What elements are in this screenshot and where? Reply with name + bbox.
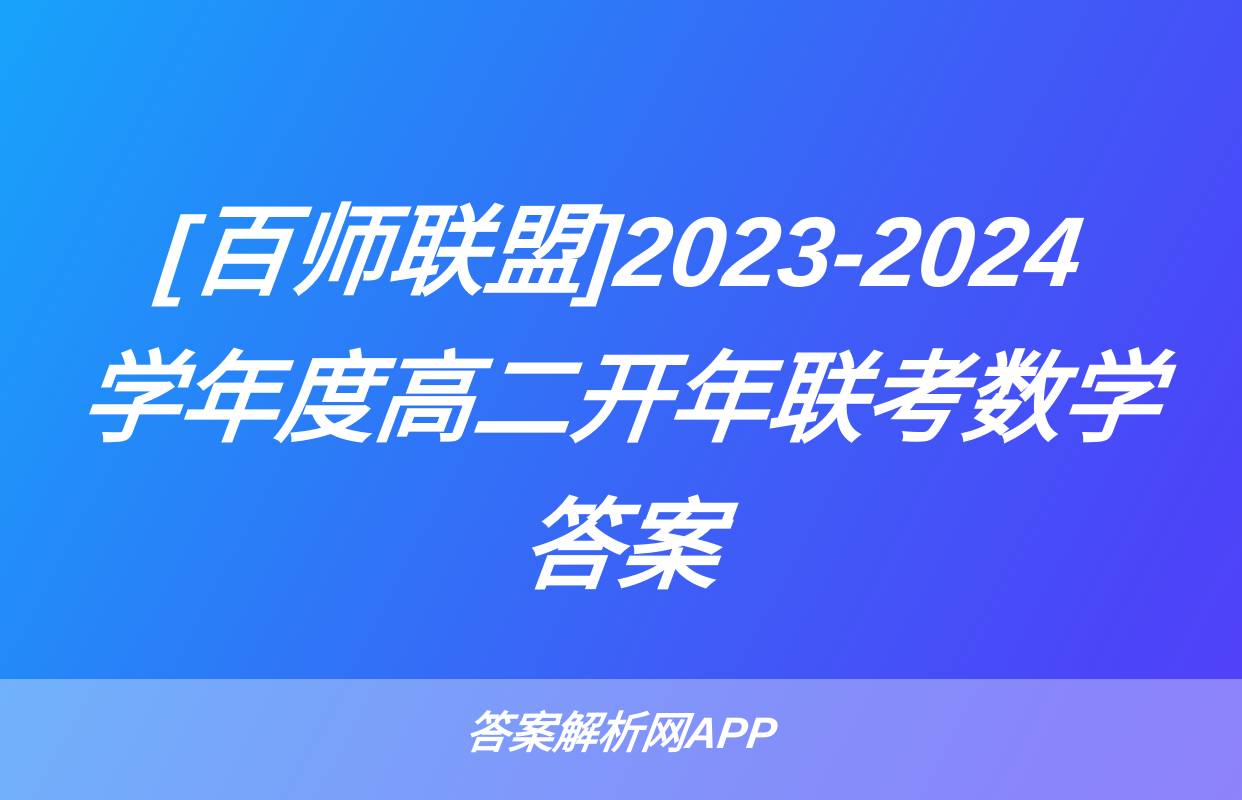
poster-canvas: [百师联盟]2023-2024 学年度高二开年联考数学 答案 答案解析网APP [0,0,1242,800]
watermark-label: 答案解析网APP [462,706,780,762]
title-line-2: 学年度高二开年联考数学 [0,325,1242,472]
watermark: 答案解析网APP [0,706,1242,762]
title-line-3: 答案 [0,472,1242,619]
title-line-1: [百师联盟]2023-2024 [0,178,1242,325]
page-title: [百师联盟]2023-2024 学年度高二开年联考数学 答案 [0,178,1242,619]
